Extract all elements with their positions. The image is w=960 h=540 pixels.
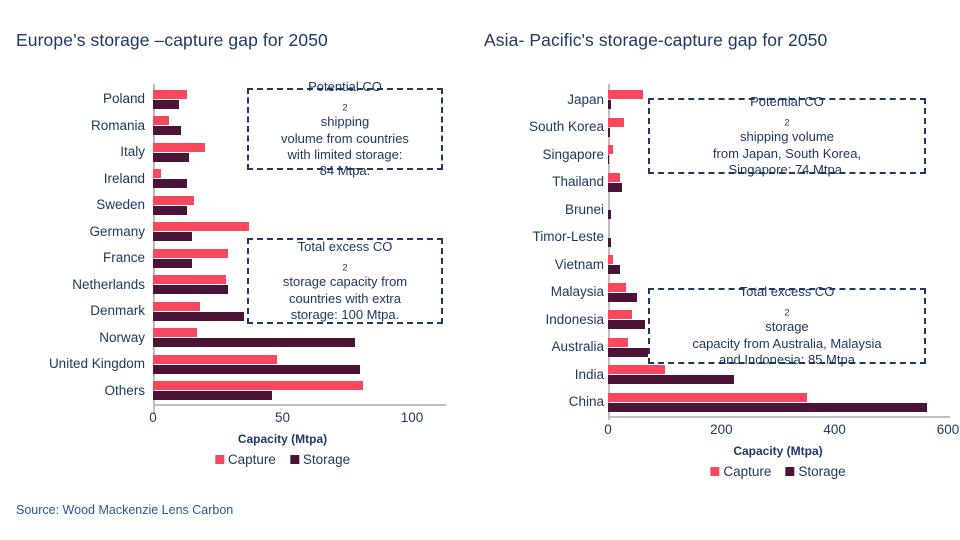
bar-capture [608,255,613,264]
bar-storage [608,210,611,219]
storage-swatch-icon [785,467,794,476]
x-tick-label: 50 [275,410,290,425]
x-tick-label: 0 [604,422,612,437]
category-label: France [20,251,145,265]
page-title-europe: Europe’s storage –capture gap for 2050 [16,30,328,51]
bar-storage [153,206,187,215]
category-label: Denmark [20,304,145,318]
callout-line-4: storage: 100 Mtpa. [283,307,407,323]
bar-group [153,325,414,352]
bar-storage [153,153,189,162]
category-label: India [484,368,604,382]
callout-line-1: Potential CO2 shipping [281,79,409,131]
category-label: Ireland [20,172,145,186]
category-label: Brunei [484,203,604,217]
bar-storage [153,126,181,135]
category-label: Indonesia [484,313,604,327]
co2-subscript: 2 [784,118,789,128]
co2-subscript: 2 [784,308,789,318]
category-label: Singapore [484,148,604,162]
callout-line-4: 84 Mtpa. [281,163,409,179]
bar-storage [608,265,620,274]
bar-storage [608,320,645,329]
bar-capture [608,283,626,292]
bar-capture [608,338,628,347]
bar-capture [153,143,205,152]
legend-item-capture[interactable]: Capture [710,464,771,479]
chart-legend: CaptureStorage [710,464,845,479]
callout-total-excess-storage-europe: Total excess CO2 storage capacity from c… [247,238,443,324]
bar-capture [153,196,194,205]
bar-storage [608,128,610,137]
category-label: Others [20,384,145,398]
category-label: Timor-Leste [484,230,604,244]
bar-storage [153,232,192,241]
bar-storage [608,100,611,109]
category-label: Thailand [484,175,604,189]
category-label: Vietnam [484,258,604,272]
bar-storage [153,100,179,109]
bar-storage [608,238,611,247]
bar-capture [608,173,620,182]
category-label: South Korea [484,120,604,134]
source-note: Source: Wood Mackenzie Lens Carbon [16,503,233,517]
category-label: Netherlands [20,278,145,292]
bar-capture [608,145,613,154]
bar-capture [608,90,643,99]
callout-total-excess-storage-asia: Total excess CO2 storage capacity from A… [648,288,926,364]
legend-item-capture[interactable]: Capture [215,452,276,467]
bar-capture [153,355,277,364]
callout-line-1: Total excess CO2 [283,239,407,275]
bar-capture [153,90,187,99]
bar-capture [153,328,197,337]
bar-group [608,196,940,224]
category-label: Sweden [20,198,145,212]
bar-capture [608,365,665,374]
bar-group [608,251,940,279]
bar-group [608,389,940,417]
callout-potential-shipping-volume-europe: Potential CO2 shipping volume from count… [247,88,443,170]
callout-line-3: countries with extra [283,291,407,307]
bar-storage [153,338,355,347]
x-axis-line [608,416,950,418]
bar-capture [153,249,228,258]
bar-capture [608,310,632,319]
category-label: Malaysia [484,285,604,299]
category-label: Poland [20,92,145,106]
capture-swatch-icon [710,467,719,476]
bar-capture [608,118,624,127]
category-label: Japan [484,93,604,107]
co2-subscript: 2 [342,263,347,273]
callout-line-1: Potential CO2 shipping volume [713,94,861,146]
legend-label: Capture [228,452,276,467]
callout-line-3: with limited storage: [281,147,409,163]
callout-line-2: storage capacity from [283,274,407,290]
bar-storage [153,365,360,374]
legend-label: Capture [723,464,771,479]
bar-capture [608,393,807,402]
bar-capture [153,381,363,390]
bar-storage [608,375,734,384]
chart-legend: CaptureStorage [215,452,350,467]
callout-line-2: volume from countries [281,131,409,147]
legend-label: Storage [798,464,845,479]
category-label: Romania [20,119,145,133]
x-axis-title: Capacity (Mtpa) [733,444,822,458]
category-label: Australia [484,340,604,354]
bar-capture [153,302,200,311]
category-label: China [484,395,604,409]
bar-storage [608,155,609,164]
x-tick-label: 200 [710,422,733,437]
bar-storage [153,391,272,400]
category-label: Germany [20,225,145,239]
x-axis-title: Capacity (Mtpa) [238,432,327,446]
x-tick-label: 400 [823,422,846,437]
category-label: Italy [20,145,145,159]
europe-panel: Europe’s storage –capture gap for 2050 P… [0,0,470,540]
category-label: Norway [20,331,145,345]
x-tick-label: 100 [401,410,424,425]
bar-capture [153,116,169,125]
page-title-asia-pacific: Asia- Pacific's storage-capture gap for … [484,30,827,51]
x-axis-line [153,404,446,406]
co2-subscript: 2 [342,103,347,113]
capture-swatch-icon [215,455,224,464]
bar-capture [153,222,249,231]
legend-label: Storage [303,452,350,467]
storage-swatch-icon [290,455,299,464]
category-label: United Kingdom [20,357,145,371]
bar-group [153,378,414,405]
callout-potential-shipping-volume-asia: Potential CO2 shipping volume from Japan… [648,98,926,174]
bar-storage [153,285,228,294]
bar-storage [153,312,244,321]
bar-group [608,224,940,252]
callout-line-1: Total excess CO2 storage [692,284,881,336]
legend-item-storage[interactable]: Storage [785,464,845,479]
callout-line-2: capacity from Australia, Malaysia [692,336,881,352]
bar-storage [608,293,637,302]
bar-group [153,351,414,378]
x-tick-label: 0 [149,410,157,425]
callout-line-3: Singapore: 74 Mtpa. [713,162,861,178]
bar-capture [153,275,226,284]
x-tick-label: 600 [937,422,960,437]
asia-pacific-panel: Asia- Pacific's storage-capture gap for … [470,0,960,540]
bar-capture [153,169,161,178]
bar-storage [608,183,622,192]
callout-line-3: and Indonesia: 85 Mtpa [692,352,881,368]
bar-storage [153,259,192,268]
bar-group [153,192,414,219]
legend-item-storage[interactable]: Storage [290,452,350,467]
bar-storage [153,179,187,188]
callout-line-2: from Japan, South Korea, [713,146,861,162]
bar-storage [608,403,927,412]
